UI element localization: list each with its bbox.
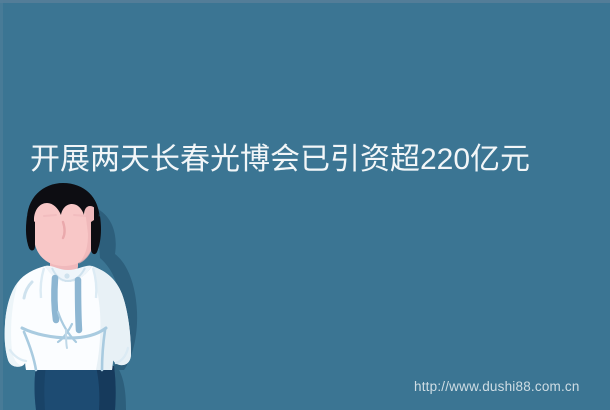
headline-text: 开展两天长春光博会已引资超220亿元 (30, 142, 585, 178)
hair-lock-left (26, 216, 35, 250)
drawstring-left (54, 278, 56, 320)
pants (35, 366, 116, 410)
drawstring-right (78, 280, 79, 330)
hoodie (5, 266, 131, 370)
person-illustration (0, 182, 150, 410)
top-edge-highlight (0, 0, 610, 3)
fold-line-c (66, 330, 67, 348)
source-watermark: http://www.dushi88.com.cn (414, 379, 580, 395)
person-illustration-svg (0, 182, 150, 410)
image-canvas: 开展两天长春光博会已引资超220亿元 http://www.dushi88.co… (0, 0, 610, 410)
brow-left (44, 215, 56, 216)
drawstring-eyelet (64, 273, 69, 278)
brow-right (74, 215, 86, 216)
